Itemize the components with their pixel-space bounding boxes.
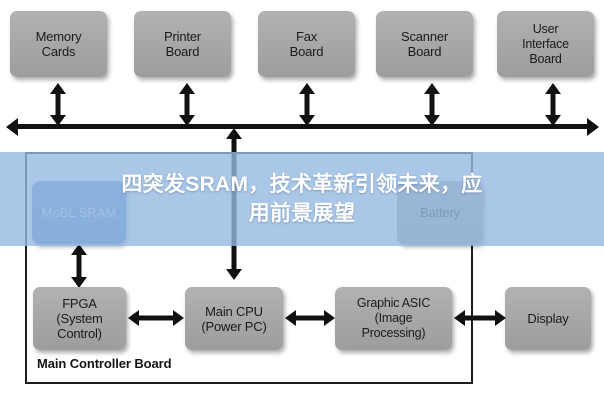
arrow-printer-board-to-bus (177, 83, 197, 126)
arrowhead-right-icon (173, 310, 184, 326)
block-graphic-asic-line-1: Graphic ASIC (357, 296, 430, 311)
block-user-interface-board-line-2: Interface (522, 37, 569, 52)
block-fpga-line-2: (System (56, 311, 102, 326)
arrowhead-right-icon (324, 310, 335, 326)
block-printer-board-line-1: Printer (164, 29, 201, 44)
arrow-mobl-sram-to-fpga (69, 244, 89, 288)
arrow-fax-board-to-bus (297, 83, 317, 126)
block-user-interface-board: User Interface Board (497, 11, 594, 77)
arrow-user-interface-board-to-bus (543, 83, 563, 126)
block-fpga-line-3: Control) (56, 326, 102, 341)
block-user-interface-board-line-3: Board (522, 52, 569, 67)
block-fax-board-line-1: Fax (290, 29, 324, 44)
arrow-graphic-asic-to-display (454, 308, 506, 328)
block-fpga-line-1: FPGA (56, 296, 102, 311)
block-memory-cards: Memory Cards (10, 11, 107, 77)
arrow-stem (56, 91, 61, 118)
block-fax-board: Fax Board (258, 11, 355, 77)
block-graphic-asic: Graphic ASIC (Image Processing) (335, 287, 452, 350)
arrow-stem (136, 316, 176, 321)
main-controller-board-label: Main Controller Board (37, 356, 171, 371)
block-memory-cards-line-2: Cards (36, 44, 82, 59)
block-scanner-board-line-1: Scanner (401, 29, 448, 44)
bus-arrowhead-right-icon (587, 118, 599, 136)
arrow-scanner-board-to-bus (422, 83, 442, 126)
block-display-line-1: Display (527, 311, 568, 326)
arrowhead-right-icon (495, 310, 506, 326)
arrow-stem (430, 91, 435, 118)
block-printer-board: Printer Board (134, 11, 231, 77)
block-main-cpu: Main CPU (Power PC) (185, 287, 283, 350)
block-printer-board-line-2: Board (164, 44, 201, 59)
arrow-memory-cards-to-bus (48, 83, 68, 126)
block-diagram-image: Memory Cards Printer Board Fax Board Sca… (0, 0, 604, 400)
overlay-banner-line-2: 用前景展望 (42, 199, 562, 228)
arrowhead-down-icon (226, 269, 242, 280)
block-graphic-asic-line-2: (Image (357, 311, 430, 326)
arrow-main-cpu-to-graphic-asic (285, 308, 335, 328)
block-graphic-asic-line-3: Processing) (357, 326, 430, 341)
block-memory-cards-line-1: Memory (36, 29, 82, 44)
block-main-cpu-line-1: Main CPU (201, 304, 266, 319)
overlay-banner: 四突发SRAM，技术革新引领未来，应 用前景展望 (0, 152, 604, 246)
block-scanner-board: Scanner Board (376, 11, 473, 77)
block-user-interface-board-line-1: User (522, 22, 569, 37)
block-fax-board-line-2: Board (290, 44, 324, 59)
block-display: Display (505, 287, 591, 350)
arrow-stem (462, 316, 498, 321)
arrow-fpga-to-main-cpu (128, 308, 184, 328)
system-bus-line (17, 124, 589, 129)
block-fpga: FPGA (System Control) (33, 287, 126, 350)
arrow-stem (551, 91, 556, 118)
arrow-stem (185, 91, 190, 118)
block-scanner-board-line-2: Board (401, 44, 448, 59)
block-main-cpu-line-2: (Power PC) (201, 319, 266, 334)
arrow-stem (293, 316, 327, 321)
arrow-stem (77, 252, 82, 280)
arrow-stem (305, 91, 310, 118)
overlay-banner-text: 四突发SRAM，技术革新引领未来，应 用前景展望 (42, 170, 562, 228)
overlay-banner-line-1: 四突发SRAM，技术革新引领未来，应 (42, 170, 562, 199)
